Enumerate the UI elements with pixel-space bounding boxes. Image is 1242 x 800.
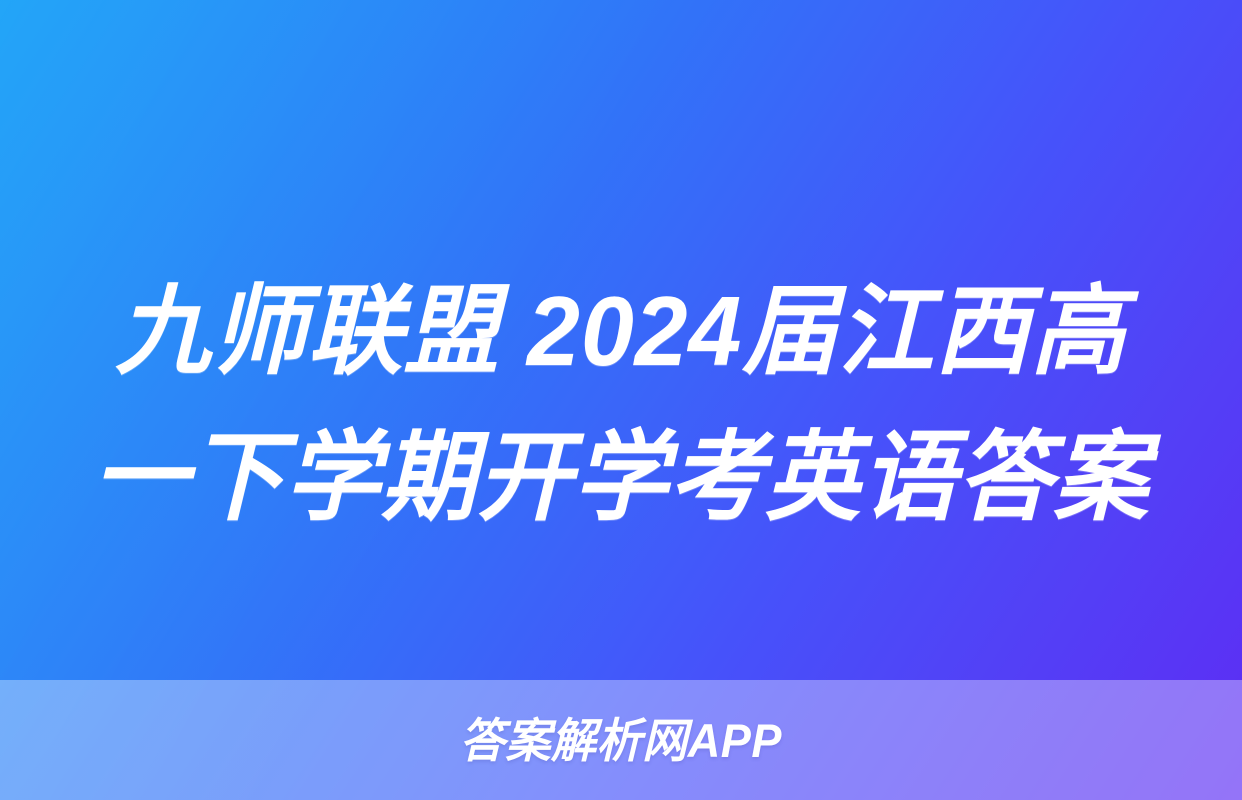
page-title: 九师联盟 2024届江西高 一下学期开学考英语答案 <box>0 258 1242 550</box>
title-line-2: 一下学期开学考英语答案 <box>65 404 1177 550</box>
title-line-1: 九师联盟 2024届江西高 <box>65 258 1177 404</box>
footer-watermark-text: 答案解析网APP <box>460 717 782 764</box>
promo-poster: 九师联盟 2024届江西高 一下学期开学考英语答案 答案解析网APP <box>0 0 1242 800</box>
footer-watermark-band: 答案解析网APP <box>0 680 1242 800</box>
